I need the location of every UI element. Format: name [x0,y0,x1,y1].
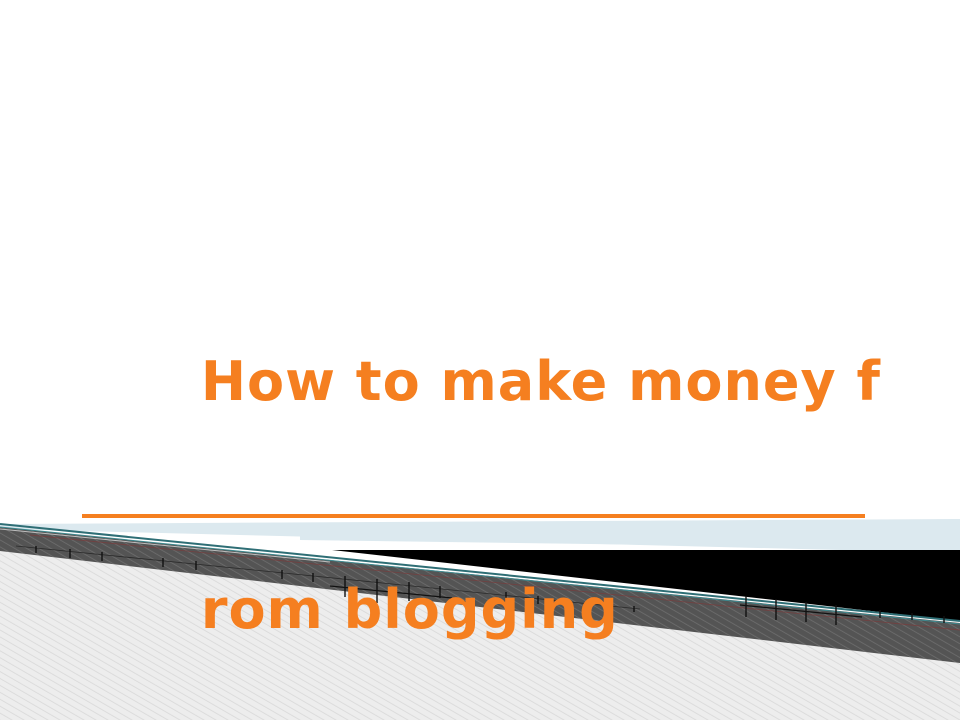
title-line-2-text: rom blogging [201,578,619,641]
slide-canvas: How to make money f rom blogging [0,0,960,720]
slide-title: How to make money f rom blogging [82,296,902,720]
title-line-1: How to make money f [82,296,902,524]
title-line-2: rom blogging [82,524,902,720]
title-line-1-text: How to make money f [201,350,881,413]
title-line-1-underline [82,514,865,518]
